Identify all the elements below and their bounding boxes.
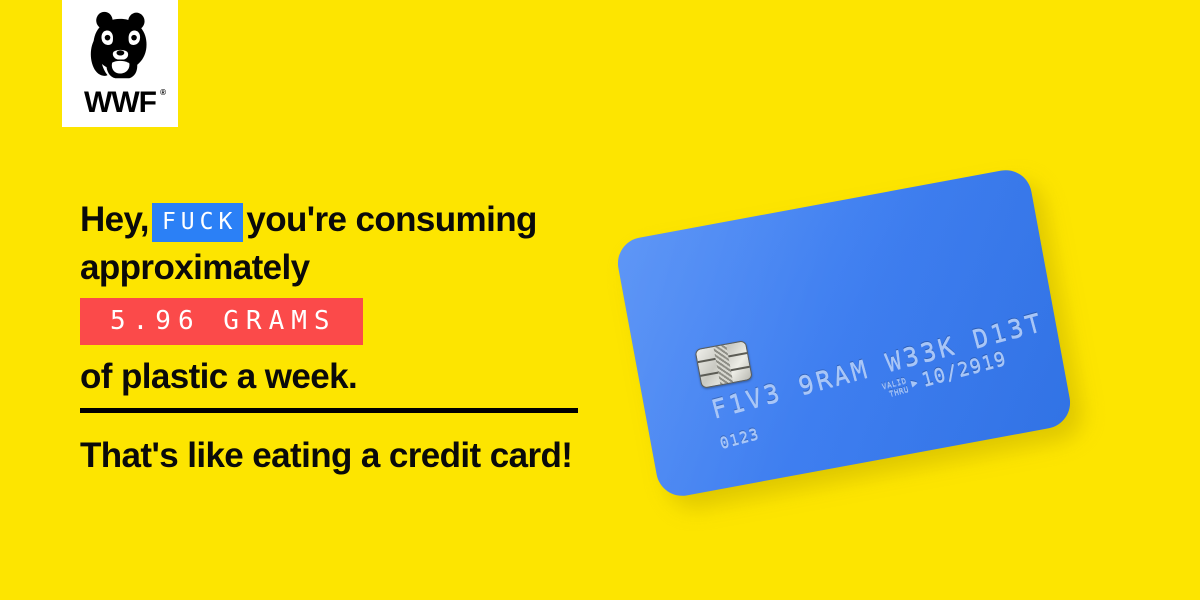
- headline-text-after: you're consuming: [246, 200, 536, 239]
- divider-rule: [80, 408, 578, 413]
- wwf-wordmark-text: WWF: [84, 86, 156, 119]
- valid-thru-arrow-icon: ▶: [910, 376, 920, 388]
- headline-line-4: of plastic a week.: [80, 353, 600, 401]
- registered-mark: ®: [160, 89, 165, 97]
- credit-card-illustration: F1V3 9RAM W33K D13T 0123 VALID THRU ▶ 10…: [612, 180, 1092, 510]
- card-sequence-number: 0123: [718, 424, 761, 452]
- headline-copy: Hey,FUCKyou're consuming approximately 5…: [80, 196, 600, 401]
- wwf-logo: WWF®: [62, 0, 178, 127]
- headline-text-before: Hey,: [80, 200, 149, 239]
- headline-line-1-inner: Hey,FUCKyou're consuming: [80, 196, 600, 244]
- grams-highlight: 5.96 GRAMS: [80, 298, 363, 345]
- kicker-line: That's like eating a credit card!: [80, 432, 572, 480]
- profanity-highlight: FUCK: [152, 203, 243, 242]
- ad-canvas: WWF® Hey,FUCKyou're consuming approximat…: [0, 0, 1200, 600]
- wwf-wordmark: WWF®: [84, 88, 156, 118]
- valid-thru-label: VALID THRU: [881, 376, 910, 400]
- panda-icon: [81, 8, 159, 86]
- headline-line-2: approximately: [80, 244, 600, 292]
- amount-row: 5.96 GRAMS: [80, 298, 600, 345]
- chip-contact-center: [713, 345, 733, 385]
- headline-line-1: Hey,FUCKyou're consuming approximately: [80, 196, 600, 292]
- emv-chip-icon: [695, 340, 753, 389]
- headline-line-4-text: of plastic a week.: [80, 353, 600, 401]
